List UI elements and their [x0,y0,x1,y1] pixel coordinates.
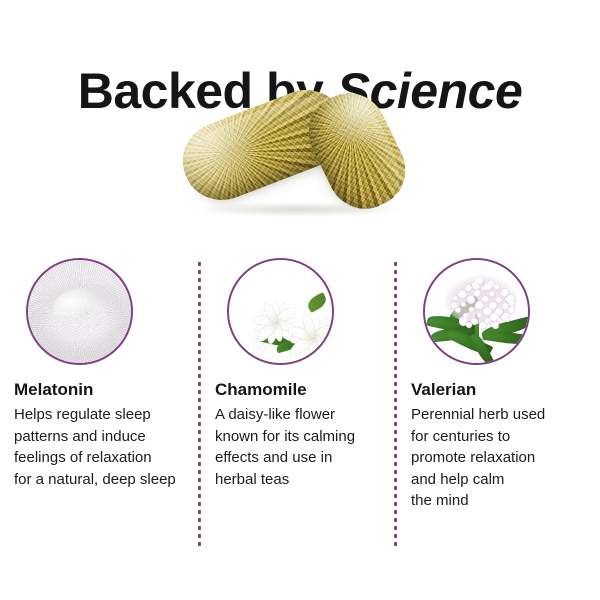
ingredient-title-chamomile: Chamomile [215,379,401,401]
melatonin-thumbnail-image [28,260,131,363]
valerian-floret [496,297,502,303]
ingredient-title-melatonin: Melatonin [14,379,200,401]
valerian-floret [451,302,458,309]
melatonin-powder-icon [26,258,133,365]
valerian-floret [489,291,495,297]
valerian-floret [505,317,510,322]
chamomile-thumbnail-image [229,260,332,363]
valerian-floret [469,307,474,312]
valerian-floret [494,284,500,290]
valerian-floret [509,301,515,307]
ingredient-columns: Melatonin Helps regulate sleep patterns … [0,258,600,558]
ingredient-body-melatonin: Helps regulate sleep patterns and induce… [14,404,200,490]
valerian-floret [466,322,472,328]
valerian-floret [467,296,475,304]
valerian-floret [477,313,482,318]
ingredient-title-valerian: Valerian [411,379,597,401]
valerian-floret [475,276,484,285]
valerian-floret [458,290,467,299]
valerian-floret [479,322,487,330]
chamomile-flower-icon [227,258,334,365]
valerian-floret [471,318,478,325]
valerian-flower-umbel [445,276,517,324]
ingredient-card-melatonin: Melatonin Helps regulate sleep patterns … [14,258,200,490]
hero-tablets-image [178,96,422,232]
valerian-herb-icon [423,258,530,365]
valerian-floret [453,296,458,301]
valerian-leaf [482,329,528,346]
infographic-root: Backed by Science Melatonin Helps regula… [0,0,600,600]
valerian-floret [508,307,515,314]
valerian-floret [484,283,492,291]
valerian-floret [461,302,466,307]
ingredient-body-valerian: Perennial herb used for centuries to pro… [411,404,597,512]
valerian-thumbnail-image [425,260,528,363]
ingredient-body-chamomile: A daisy-like flower known for its calmin… [215,404,401,490]
ingredient-card-valerian: Valerian Perennial herb used for centuri… [411,258,597,512]
valerian-floret [474,290,481,297]
valerian-floret [492,322,499,329]
ingredient-card-chamomile: Chamomile A daisy-like flower known for … [215,258,401,490]
